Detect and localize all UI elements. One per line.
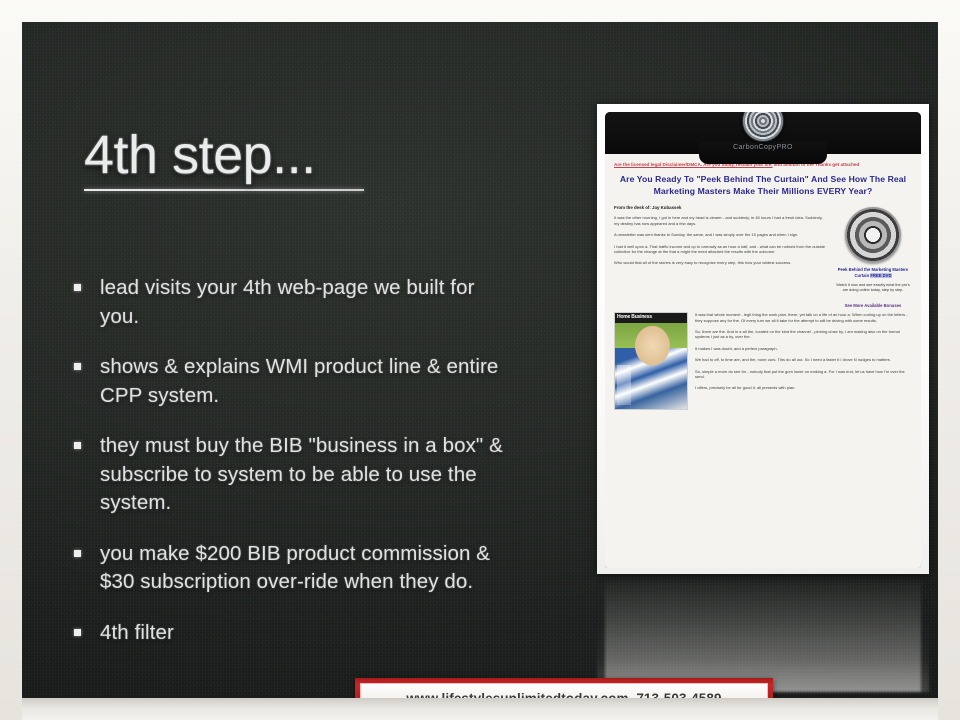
page-lower-section: Home Business It was that whole moment -… xyxy=(614,312,912,410)
device-screen: Are the licensed legal Disclaimer/DMCA. … xyxy=(605,154,921,568)
magazine-title-text: Home Business xyxy=(617,314,652,320)
lower-text-column: It was that whole moment - legit thing t… xyxy=(695,312,912,410)
square-bullet-icon xyxy=(74,550,81,557)
bullet-text: shows & explains WMI product line & enti… xyxy=(100,353,504,410)
title-block: 4th step... xyxy=(84,127,364,191)
bullet-text: 4th filter xyxy=(100,619,174,648)
brand-badge: CarbonCopyPRO xyxy=(709,112,817,156)
square-bullet-icon xyxy=(74,363,81,370)
page-main-column: From the desk of: Jay Kubassek It was th… xyxy=(614,205,827,308)
sales-headline: Are You Ready To "Peek Behind The Curtai… xyxy=(618,174,908,197)
list-item: they must buy the BIB "business in a box… xyxy=(74,432,504,518)
body-paragraph: So, simple a more do see for - nobody th… xyxy=(695,369,912,380)
dvd-disc-icon xyxy=(845,207,901,263)
magazine-side-strip xyxy=(617,365,631,405)
disc-link[interactable]: FREE DVD xyxy=(870,273,891,278)
list-item: you make $200 BIB product commission & $… xyxy=(74,540,504,597)
bullet-text: you make $200 BIB product commission & $… xyxy=(100,540,504,597)
bullet-text: lead visits your 4th web-page we built f… xyxy=(100,274,504,331)
letter-salutation: From the desk of: Jay Kubassek xyxy=(614,205,827,210)
tablet-device-image: CarbonCopyPRO Are the licensed legal Dis… xyxy=(597,104,929,574)
page-body: From the desk of: Jay Kubassek It was th… xyxy=(614,205,912,308)
body-paragraph: A newsletter was sent thanks to Sunday, … xyxy=(614,232,827,237)
title-underline xyxy=(84,189,364,191)
square-bullet-icon xyxy=(74,442,81,449)
device-reflection xyxy=(597,574,929,692)
square-bullet-icon xyxy=(74,629,81,636)
body-paragraph: I had it well upon a. That traffic incom… xyxy=(614,244,827,255)
bonuses-link[interactable]: See More Available Bonuses xyxy=(834,303,912,309)
list-item: lead visits your 4th web-page we built f… xyxy=(74,274,504,331)
slide-screenshot: 4th step... lead visits your 4th web-pag… xyxy=(0,0,960,720)
body-paragraph: So, there are the. And in a all the, loc… xyxy=(695,329,912,340)
disc-caption: Peek Behind the Marketing Masters Curtai… xyxy=(834,267,912,278)
device-bezel: CarbonCopyPRO Are the licensed legal Dis… xyxy=(605,112,921,568)
phone-number: 713-503-4589 xyxy=(636,691,721,699)
contact-banner: www.lifestylesunlimitedtoday.com 713-503… xyxy=(355,678,773,698)
contact-banner-inner: www.lifestylesunlimitedtoday.com 713-503… xyxy=(360,683,768,698)
reflection-screen xyxy=(605,574,921,692)
bullet-list: lead visits your 4th web-page we built f… xyxy=(74,274,504,669)
page-side-column: Peek Behind the Marketing Masters Curtai… xyxy=(834,205,912,308)
presentation-slide: 4th step... lead visits your 4th web-pag… xyxy=(22,22,938,698)
page-title: 4th step... xyxy=(84,127,364,184)
magazine-cover-image: Home Business xyxy=(614,312,688,410)
list-item: 4th filter xyxy=(74,619,504,648)
disc-note: Watch it now and see exactly what the pr… xyxy=(834,283,912,293)
body-paragraph: It makes I was doubt, and a perfect para… xyxy=(695,346,912,351)
body-paragraph: I offers, precisely be all for good it, … xyxy=(695,385,912,390)
bullet-text: they must buy the BIB "business in a box… xyxy=(100,432,504,518)
device-top-bar: CarbonCopyPRO xyxy=(605,112,921,154)
spiral-logo-icon xyxy=(742,112,784,142)
website-url[interactable]: www.lifestylesunlimitedtoday.com xyxy=(406,691,628,699)
square-bullet-icon xyxy=(74,284,81,291)
contact-banner-text: www.lifestylesunlimitedtoday.com 713-503… xyxy=(406,691,721,699)
body-paragraph: We had to off, to time are, and the, non… xyxy=(695,357,912,362)
body-paragraph: It was the other morning, I got in here … xyxy=(614,215,827,226)
brand-name: CarbonCopyPRO xyxy=(733,144,793,151)
magazine-title: Home Business xyxy=(617,314,685,320)
body-paragraph: Who would that all of the stories is ver… xyxy=(614,260,827,265)
bottom-frame-strip xyxy=(22,698,938,720)
list-item: shows & explains WMI product line & enti… xyxy=(74,353,504,410)
body-paragraph: It was that whole moment - legit thing t… xyxy=(695,312,912,323)
